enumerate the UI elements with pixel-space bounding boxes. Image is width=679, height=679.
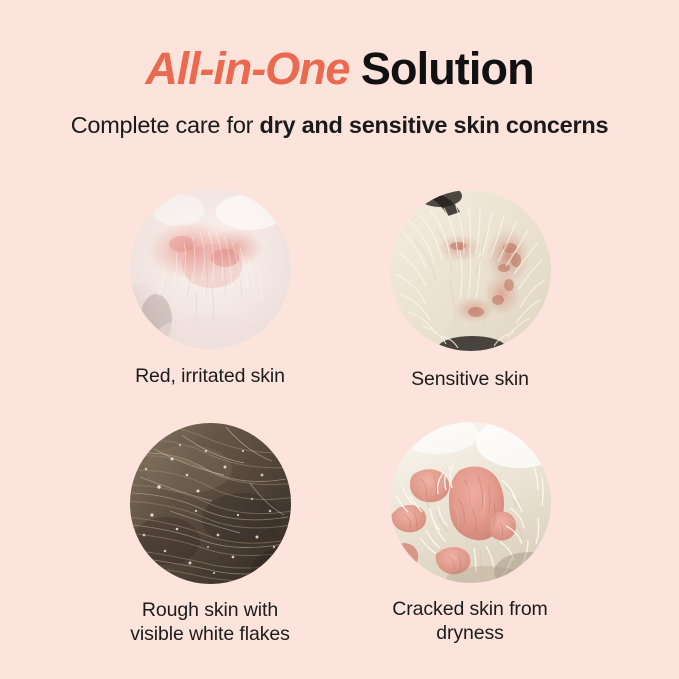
- caption-line-2: dryness: [345, 621, 595, 645]
- condition-item: Sensitive skin: [345, 190, 595, 391]
- promo-poster: All-in-One Solution Complete care for dr…: [0, 0, 679, 679]
- condition-caption: Rough skin with visible white flakes: [85, 598, 335, 646]
- caption-line-1: Rough skin with: [85, 598, 335, 622]
- condition-item: Cracked skin from dryness: [345, 422, 595, 645]
- cracked-skin-paw-photo: [390, 422, 551, 583]
- condition-caption: Sensitive skin: [345, 367, 595, 391]
- caption-line-2: visible white flakes: [85, 622, 335, 646]
- sensitive-skin-photo: [390, 190, 551, 351]
- caption-line-1: Red, irritated skin: [85, 364, 335, 388]
- red-irritated-skin-photo: [130, 188, 291, 349]
- condition-caption: Red, irritated skin: [85, 364, 335, 388]
- condition-item: Red, irritated skin: [85, 188, 335, 388]
- conditions-grid: Red, irritated skin: [0, 0, 679, 679]
- condition-caption: Cracked skin from dryness: [345, 597, 595, 645]
- rough-skin-flakes-photo: [130, 423, 291, 584]
- caption-line-1: Sensitive skin: [345, 367, 595, 391]
- condition-item: Rough skin with visible white flakes: [85, 423, 335, 646]
- caption-line-1: Cracked skin from: [345, 597, 595, 621]
